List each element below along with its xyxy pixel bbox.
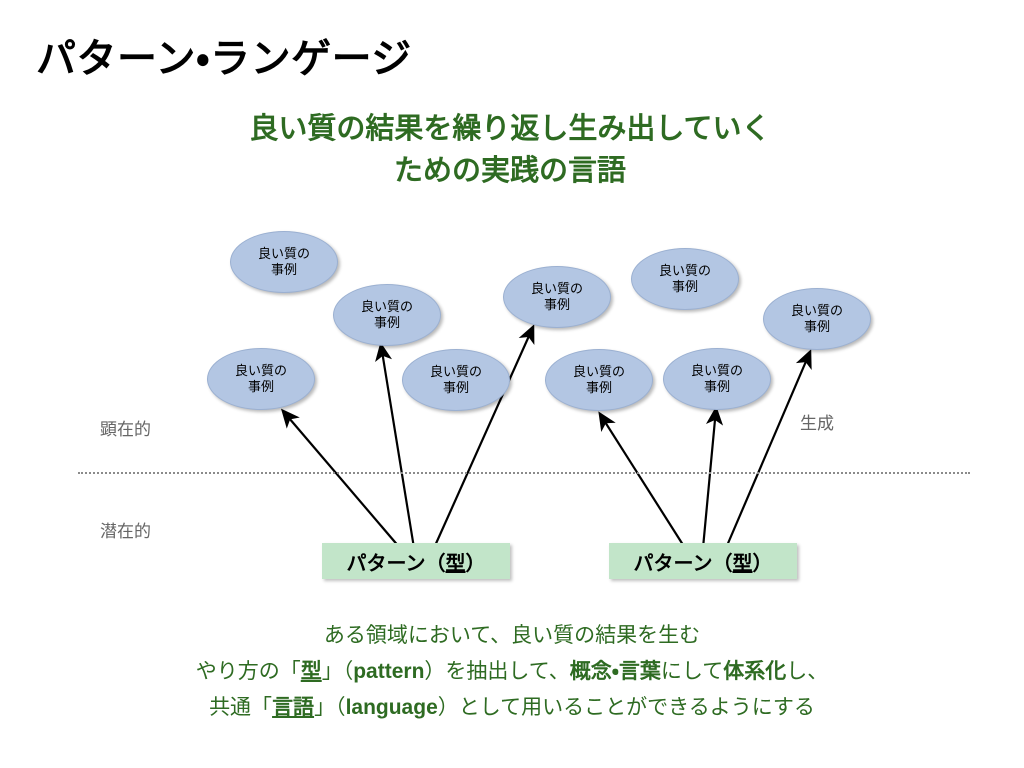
label-manifest: 顕在的 (100, 415, 151, 440)
example-node-line-2: 事例 (586, 380, 612, 396)
label-generate: 生成 (800, 409, 834, 434)
example-node-line-2: 事例 (672, 279, 698, 295)
caption-l3-a: 共通「 (209, 696, 272, 719)
example-node-line-1: 良い質の (691, 363, 743, 379)
manifest-latent-divider (78, 472, 970, 474)
pattern-box-suffix: ） (753, 547, 773, 576)
caption-line-2: やり方の「型」（pattern）を抽出して、概念・言葉にして体系化し、 (52, 654, 972, 690)
pattern-box-kata: 型 (733, 547, 753, 576)
example-node-line-1: 良い質の (430, 364, 482, 380)
example-node-line-2: 事例 (443, 380, 469, 396)
pattern-box-prefix: パターン（ (347, 547, 446, 576)
slide-canvas: パターン・ランゲージ 良い質の結果を繰り返し生み出していく ための実践の言語 (0, 0, 1024, 768)
example-node-line-1: 良い質の (531, 281, 583, 297)
example-node[interactable]: 良い質の 事例 (207, 348, 315, 410)
example-node-line-2: 事例 (248, 379, 274, 395)
caption-l3-b: 」（ (314, 696, 346, 719)
example-node-line-1: 良い質の (361, 299, 413, 315)
caption-l2-b: 」（ (322, 660, 354, 683)
example-node[interactable]: 良い質の 事例 (230, 231, 338, 293)
example-node-line-1: 良い質の (573, 364, 625, 380)
pattern-box-prefix: パターン（ (634, 547, 733, 576)
example-node-line-2: 事例 (544, 297, 570, 313)
example-node[interactable]: 良い質の 事例 (402, 349, 510, 411)
pattern-box-right[interactable]: パターン（型） (609, 543, 797, 579)
example-node[interactable]: 良い質の 事例 (763, 288, 871, 350)
pattern-box-suffix: ） (466, 547, 486, 576)
caption-l3-gengo: 言語 (272, 696, 314, 719)
arrow-right-to-node-6 (600, 414, 685, 548)
caption-l3-language: language (346, 696, 438, 719)
example-node[interactable]: 良い質の 事例 (545, 349, 653, 411)
example-node[interactable]: 良い質の 事例 (663, 348, 771, 410)
example-node-line-2: 事例 (804, 319, 830, 335)
caption-l2-system: 体系化 (723, 660, 786, 683)
example-node-line-1: 良い質の (791, 303, 843, 319)
slide-caption: ある領域において、良い質の結果を生む やり方の「型」（pattern）を抽出して… (52, 618, 972, 726)
caption-line-3: 共通「言語」（language）として用いることができるようにする (52, 690, 972, 726)
example-node-line-1: 良い質の (235, 363, 287, 379)
label-latent: 潜在的 (100, 517, 151, 542)
caption-l2-e: し、 (786, 660, 828, 683)
example-node[interactable]: 良い質の 事例 (333, 284, 441, 346)
example-node-line-2: 事例 (374, 315, 400, 331)
pattern-box-kata: 型 (446, 547, 466, 576)
caption-l2-c: ）を抽出して、 (424, 660, 569, 683)
caption-l2-kata: 型 (301, 660, 322, 683)
caption-l2-pattern: pattern (353, 660, 424, 683)
pattern-box-left[interactable]: パターン（型） (322, 543, 510, 579)
caption-l2-a: やり方の「 (196, 660, 301, 683)
caption-l3-c: ）として用いることができるようにする (438, 696, 815, 719)
example-node-line-1: 良い質の (258, 246, 310, 262)
arrow-left-to-node-3 (283, 411, 400, 548)
example-node-line-2: 事例 (271, 262, 297, 278)
caption-l2-concept: 概念・言葉 (570, 660, 661, 683)
caption-line-1: ある領域において、良い質の結果を生む (52, 618, 972, 654)
caption-l2-d: にして (661, 660, 723, 683)
example-node[interactable]: 良い質の 事例 (631, 248, 739, 310)
example-node-line-1: 良い質の (659, 263, 711, 279)
arrow-right-to-node-7 (703, 409, 716, 548)
example-node-line-2: 事例 (704, 379, 730, 395)
example-node[interactable]: 良い質の 事例 (503, 266, 611, 328)
